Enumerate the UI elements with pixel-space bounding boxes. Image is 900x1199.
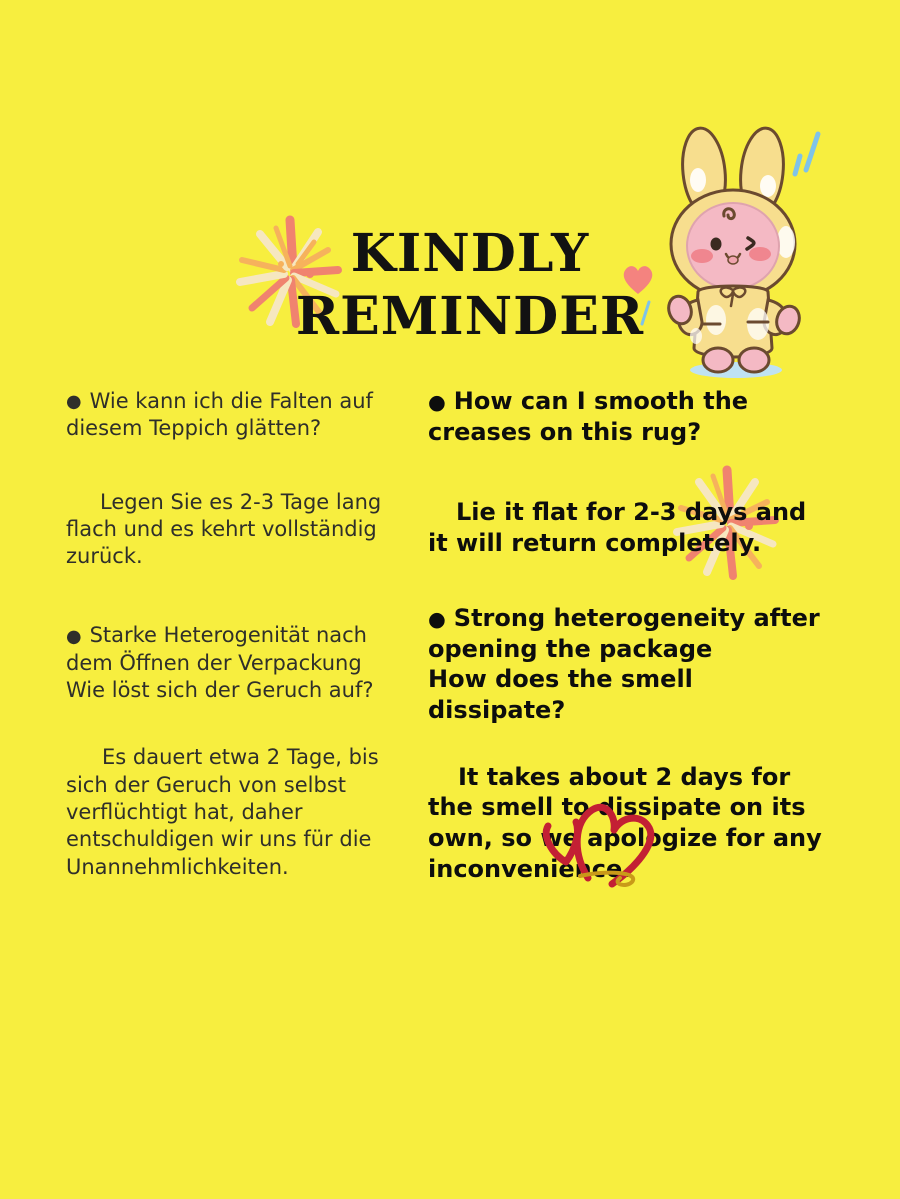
english-question-1: ●How can I smooth the creases on this ru… (428, 386, 828, 447)
title-line-1: KINDLY (0, 222, 900, 285)
english-answer-1: Lie it flat for 2-3 days and it will ret… (428, 497, 828, 558)
german-answer-1: Legen Sie es 2-3 Tage lang flach und es … (66, 489, 418, 571)
english-question-1-text: How can I smooth the creases on this rug… (428, 387, 748, 446)
german-question-2-text: Starke Heterogenität nach dem Öffnen der… (66, 623, 374, 702)
english-question-2: ●Strong heterogeneity after opening the … (428, 603, 828, 726)
poster-canvas: KINDLY REMINDER ●Wie kann ich die Falten… (0, 0, 900, 1199)
bullet-icon: ● (428, 389, 446, 415)
english-answer-2: It takes about 2 days for the smell to d… (428, 762, 828, 885)
bullet-icon: ● (428, 606, 446, 632)
bullet-icon: ● (66, 390, 82, 413)
german-question-1: ●Wie kann ich die Falten auf diesem Tepp… (66, 388, 418, 443)
german-column: ●Wie kann ich die Falten auf diesem Tepp… (66, 388, 418, 881)
english-column: ●How can I smooth the creases on this ru… (428, 386, 828, 885)
bullet-icon: ● (66, 625, 82, 648)
german-question-2: ●Starke Heterogenität nach dem Öffnen de… (66, 622, 418, 704)
page-title: KINDLY REMINDER (0, 222, 900, 349)
sparkle-lines-icon (788, 126, 834, 188)
german-answer-2: Es dauert etwa 2 Tage, bis sich der Geru… (66, 744, 418, 880)
title-line-2: REMINDER (0, 285, 900, 348)
german-question-1-text: Wie kann ich die Falten auf diesem Teppi… (66, 389, 373, 440)
english-question-2-text: Strong heterogeneity after opening the p… (428, 604, 820, 724)
